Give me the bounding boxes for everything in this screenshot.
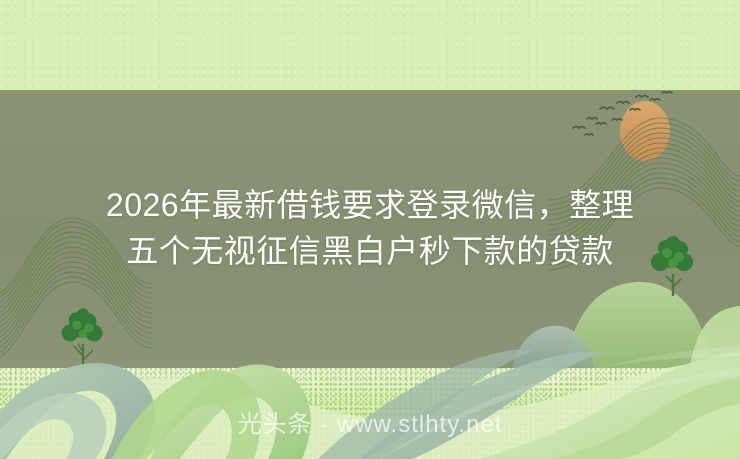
banner-canvas: 2026年最新借钱要求登录微信，整理 五个无视征信黑白户秒下款的贷款 光头条 -… (0, 0, 740, 459)
flowing-ribbon-hills (0, 346, 740, 459)
tree-left (62, 309, 103, 373)
scene-artwork (0, 0, 740, 459)
